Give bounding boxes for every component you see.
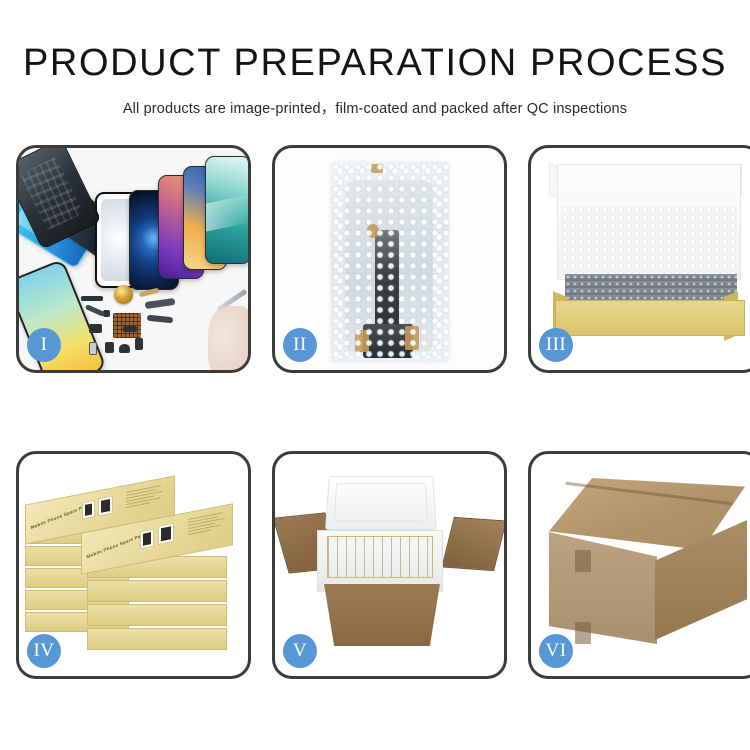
small-part-icon: [89, 342, 97, 355]
box-spec-lines-icon: [188, 511, 228, 537]
bubble-wrap-bag-icon: [331, 162, 449, 362]
infographic-root: PRODUCT PREPARATION PROCESS All products…: [0, 0, 750, 750]
process-step-grid: I II: [16, 145, 734, 679]
carton-tape-icon: [575, 550, 591, 572]
tape-icon: [355, 330, 369, 352]
small-part-icon: [105, 342, 114, 353]
step-badge-5: V: [283, 634, 317, 668]
step-badge-6: VI: [539, 634, 573, 668]
box-spec-lines-icon: [126, 484, 166, 510]
flex-cable-icon: [85, 304, 105, 317]
white-foam-sheet-icon: [561, 206, 737, 274]
small-part-icon: [89, 324, 102, 333]
box-window-icon: [158, 523, 174, 545]
small-part-icon: [135, 338, 143, 350]
step-badge-4: IV: [27, 634, 61, 668]
box-window-icon: [98, 495, 113, 516]
packed-boxes-icon: [327, 536, 433, 578]
hand-icon: [208, 306, 248, 370]
step-panel-6: VI: [528, 451, 750, 679]
speaker-coil-icon: [114, 285, 133, 304]
step-panel-5: V: [272, 451, 507, 679]
step-panel-4: Mobile Phone Spare Parts: [16, 451, 251, 679]
stacked-box-icon: [87, 628, 227, 650]
page-title: PRODUCT PREPARATION PROCESS: [0, 44, 750, 82]
tape-icon: [371, 164, 383, 173]
step-badge-2: II: [283, 328, 317, 362]
box-window-icon: [82, 500, 95, 520]
carton-tape-icon: [575, 622, 591, 644]
page-subtitle: All products are image-printed，film-coat…: [0, 97, 750, 118]
step-panel-2: II: [272, 145, 507, 373]
carton-body-icon: [319, 584, 445, 646]
tape-icon: [367, 224, 379, 238]
step-badge-1: I: [27, 328, 61, 362]
step-panel-1: I: [16, 145, 251, 373]
carton-left-face-icon: [549, 532, 657, 644]
step-panel-3: III: [528, 145, 750, 373]
flex-cable-icon: [145, 298, 176, 309]
stacked-box-icon: [87, 580, 227, 602]
box-label-text: Mobile Phone Spare Parts: [86, 531, 147, 559]
stacked-box-icon: [87, 604, 227, 626]
step-badge-3: III: [539, 328, 573, 362]
box-stack-icon: Mobile Phone Spare Parts: [25, 472, 245, 668]
header: PRODUCT PREPARATION PROCESS All products…: [0, 0, 750, 118]
box-window-icon: [140, 529, 154, 550]
small-part-icon: [81, 296, 103, 301]
carton-flap-right-icon: [441, 517, 504, 571]
small-part-icon: [119, 344, 130, 353]
wrapped-part-icon: [375, 230, 399, 358]
small-part-icon: [123, 326, 137, 332]
kraft-tray-icon: [555, 300, 745, 336]
phone-teal-screen-icon: [205, 156, 248, 264]
styrofoam-lid-icon: [325, 476, 437, 530]
tape-icon: [405, 326, 419, 350]
flex-cable-icon: [147, 315, 173, 324]
